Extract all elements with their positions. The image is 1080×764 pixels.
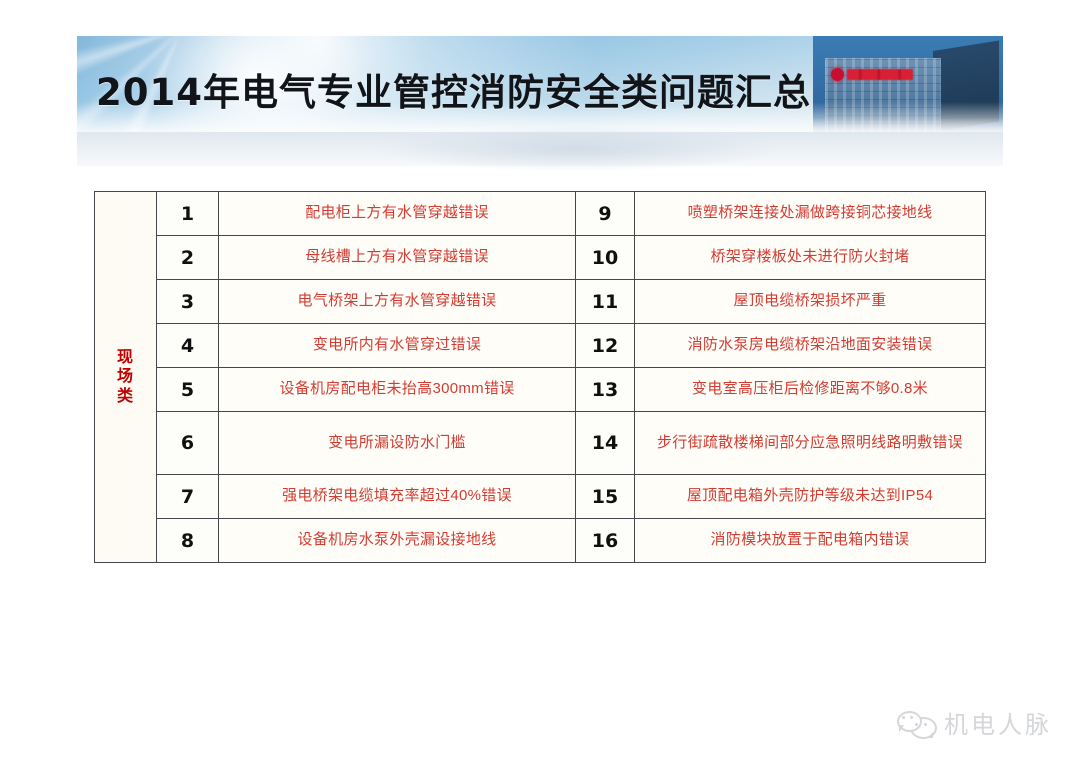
issue-number-right: 11 bbox=[576, 280, 635, 324]
banner-under-strip bbox=[77, 132, 1003, 166]
issue-text-left: 母线槽上方有水管穿越错误 bbox=[219, 236, 576, 280]
issue-number-right: 16 bbox=[576, 519, 635, 563]
table-row: 6变电所漏设防水门槛14步行街疏散楼梯间部分应急照明线路明敷错误 bbox=[95, 412, 986, 475]
issue-text-right: 喷塑桥架连接处漏做跨接铜芯接地线 bbox=[635, 192, 986, 236]
table-row: 5设备机房配电柜未抬高300mm错误13变电室高压柜后检修距离不够0.8米 bbox=[95, 368, 986, 412]
issue-text-left: 强电桥架电缆填充率超过40%错误 bbox=[219, 475, 576, 519]
issue-number-left: 6 bbox=[157, 412, 219, 475]
issue-text-right: 步行街疏散楼梯间部分应急照明线路明敷错误 bbox=[635, 412, 986, 475]
issue-number-right: 14 bbox=[576, 412, 635, 475]
building-logo-sign bbox=[831, 66, 913, 82]
issues-table-body: 现 场 类1配电柜上方有水管穿越错误9喷塑桥架连接处漏做跨接铜芯接地线2母线槽上… bbox=[95, 192, 986, 563]
table-row: 4变电所内有水管穿过错误12消防水泵房电缆桥架沿地面安装错误 bbox=[95, 324, 986, 368]
table-row: 2母线槽上方有水管穿越错误10桥架穿楼板处未进行防火封堵 bbox=[95, 236, 986, 280]
issue-text-left: 设备机房水泵外壳漏设接地线 bbox=[219, 519, 576, 563]
issues-table: 现 场 类1配电柜上方有水管穿越错误9喷塑桥架连接处漏做跨接铜芯接地线2母线槽上… bbox=[94, 191, 986, 563]
issue-number-right: 9 bbox=[576, 192, 635, 236]
slide-header-banner: 2014年电气专业管控消防安全类问题汇总 bbox=[77, 36, 1003, 132]
issue-text-left: 设备机房配电柜未抬高300mm错误 bbox=[219, 368, 576, 412]
issue-number-left: 8 bbox=[157, 519, 219, 563]
issue-text-right: 桥架穿楼板处未进行防火封堵 bbox=[635, 236, 986, 280]
issue-text-right: 屋顶配电箱外壳防护等级未达到IP54 bbox=[635, 475, 986, 519]
table-row: 现 场 类1配电柜上方有水管穿越错误9喷塑桥架连接处漏做跨接铜芯接地线 bbox=[95, 192, 986, 236]
issue-text-left: 配电柜上方有水管穿越错误 bbox=[219, 192, 576, 236]
wechat-watermark: 机电人脉 bbox=[897, 705, 1052, 740]
issue-text-left: 变电所内有水管穿过错误 bbox=[219, 324, 576, 368]
category-cell: 现 场 类 bbox=[95, 192, 157, 563]
issue-text-right: 变电室高压柜后检修距离不够0.8米 bbox=[635, 368, 986, 412]
issue-number-left: 5 bbox=[157, 368, 219, 412]
issue-text-right: 消防模块放置于配电箱内错误 bbox=[635, 519, 986, 563]
issue-text-right: 消防水泵房电缆桥架沿地面安装错误 bbox=[635, 324, 986, 368]
issue-text-right: 屋顶电缆桥架损坏严重 bbox=[635, 280, 986, 324]
wanda-logo-icon bbox=[831, 68, 844, 81]
slide-canvas: 2014年电气专业管控消防安全类问题汇总 现 场 类1配电柜上方有水管穿越错误9… bbox=[0, 0, 1080, 764]
issue-number-left: 4 bbox=[157, 324, 219, 368]
issue-number-left: 1 bbox=[157, 192, 219, 236]
wechat-icon bbox=[897, 709, 935, 737]
issue-number-left: 7 bbox=[157, 475, 219, 519]
issue-text-left: 变电所漏设防水门槛 bbox=[219, 412, 576, 475]
wechat-account-name: 机电人脉 bbox=[944, 705, 1052, 740]
issue-number-right: 10 bbox=[576, 236, 635, 280]
issue-number-right: 13 bbox=[576, 368, 635, 412]
issue-number-right: 12 bbox=[576, 324, 635, 368]
issue-number-left: 2 bbox=[157, 236, 219, 280]
issue-number-left: 3 bbox=[157, 280, 219, 324]
issue-number-right: 15 bbox=[576, 475, 635, 519]
table-row: 8设备机房水泵外壳漏设接地线16消防模块放置于配电箱内错误 bbox=[95, 519, 986, 563]
issues-table-wrapper: 现 场 类1配电柜上方有水管穿越错误9喷塑桥架连接处漏做跨接铜芯接地线2母线槽上… bbox=[94, 191, 985, 563]
table-row: 3电气桥架上方有水管穿越错误11屋顶电缆桥架损坏严重 bbox=[95, 280, 986, 324]
issue-text-left: 电气桥架上方有水管穿越错误 bbox=[219, 280, 576, 324]
page-title: 2014年电气专业管控消防安全类问题汇总 bbox=[96, 62, 811, 116]
table-row: 7强电桥架电缆填充率超过40%错误15屋顶配电箱外壳防护等级未达到IP54 bbox=[95, 475, 986, 519]
